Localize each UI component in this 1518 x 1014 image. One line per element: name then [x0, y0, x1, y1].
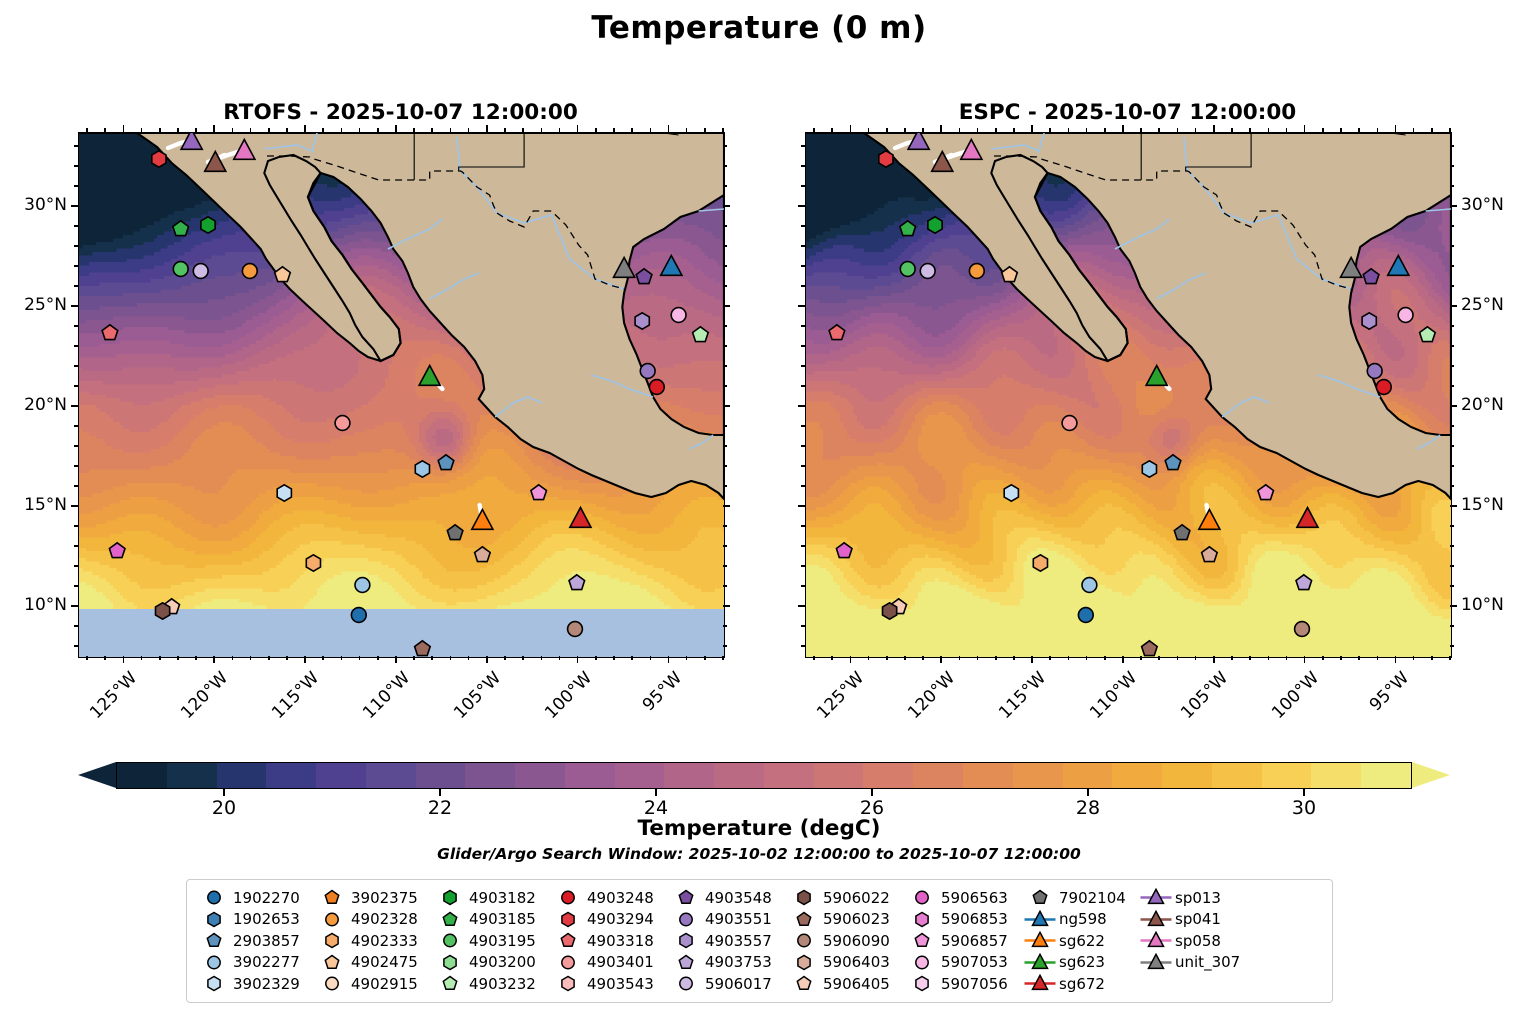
legend-item-7902104[interactable]: 7902104 [1023, 887, 1139, 909]
ytick-minor-r-espc-17 [1450, 465, 1454, 467]
map-marker-5906090[interactable] [1295, 622, 1310, 637]
xtick-minor-espc--111 [1104, 656, 1106, 660]
legend-item-2903857[interactable]: 2903857 [197, 930, 315, 952]
ytick-label-right-2: 20°N [1461, 395, 1504, 415]
xtick-minor-espc--122 [904, 656, 906, 660]
xtick-rtofs-6 [668, 656, 670, 663]
xtick-minor-top-espc--112 [1086, 128, 1088, 132]
legend-marker-unit_307 [1139, 952, 1173, 973]
legend-marker-4903543 [551, 973, 585, 994]
ytick-minor-l-espc-12 [801, 565, 805, 567]
legend-item-5906563[interactable]: 5906563 [905, 887, 1023, 909]
map-marker-4903195[interactable] [900, 262, 915, 277]
legend-item-sg622[interactable]: sg622 [1023, 930, 1139, 952]
legend-marker-5906563 [905, 887, 939, 908]
ytick-label-right-4: 30°N [1461, 195, 1504, 215]
xtick-minor-top-espc--123 [886, 128, 888, 132]
xtick-minor-top-espc--104 [1231, 128, 1233, 132]
xtick-minor-espc--107 [1177, 656, 1179, 660]
legend-marker-4903185 [433, 909, 467, 930]
xtick-minor-espc--99 [1322, 656, 1324, 660]
legend-label-4902915: 4902915 [349, 975, 418, 993]
xtick-minor-top-espc--96 [1377, 128, 1379, 132]
legend-item-4902915[interactable]: 4902915 [315, 973, 433, 995]
map-marker-3902375[interactable] [355, 578, 370, 593]
legend-marker-ng598 [1023, 909, 1057, 930]
ytick-right-rtofs-1 [723, 505, 730, 507]
xtick-minor-top-rtofs--97 [631, 128, 633, 132]
ytick-minor-r-rtofs-11 [723, 585, 727, 587]
ytick-right-espc-4 [1450, 205, 1457, 207]
xtick-minor-top-rtofs--108 [431, 128, 433, 132]
colorbar-band-4 [316, 763, 366, 788]
legend-item-4903557[interactable]: 4903557 [669, 930, 787, 952]
legend-column-0: 19022701902653290385739022773902329 [197, 887, 315, 995]
legend-item-4902333[interactable]: 4902333 [315, 930, 433, 952]
legend-item-sp041[interactable]: sp041 [1139, 909, 1261, 931]
ytick-minor-r-espc-32 [1450, 165, 1454, 167]
legend-label-5907056: 5907056 [939, 975, 1008, 993]
colorbar-band-0 [117, 763, 167, 788]
colorbar-band-22 [1212, 763, 1262, 788]
legend-label-4903548: 4903548 [703, 889, 772, 907]
legend-item-5906090[interactable]: 5906090 [787, 930, 905, 952]
legend-column-4: 49035484903551490355749037535906017 [669, 887, 787, 995]
xtick-minor-espc--114 [1049, 656, 1051, 660]
legend-label-sp058: sp058 [1173, 932, 1221, 950]
map-panel-rtofs[interactable] [78, 132, 725, 658]
xtick-espc-5 [1304, 656, 1306, 663]
xtick-rtofs-3 [395, 656, 397, 663]
legend-label-5906022: 5906022 [821, 889, 890, 907]
map-marker-4902328[interactable] [969, 264, 984, 279]
legend-marker-sg622 [1023, 930, 1057, 951]
legend-marker-1902653 [197, 909, 231, 930]
map-marker-5906017[interactable] [920, 264, 935, 279]
xtick-minor-top-rtofs--121 [195, 128, 197, 132]
xtick-top-espc-2 [1031, 125, 1033, 132]
legend-column-3: 49032484903294490331849034014903543 [551, 887, 669, 995]
legend-item-unit_307[interactable]: unit_307 [1139, 952, 1261, 974]
legend-item-4903294[interactable]: 4903294 [551, 909, 669, 931]
xtick-minor-top-rtofs--99 [595, 128, 597, 132]
xtick-minor-rtofs--113 [341, 656, 343, 660]
colorbar-band-25 [1361, 763, 1411, 788]
map-marker-5906090[interactable] [568, 622, 583, 637]
xtick-label-espc-6: 95°W [1329, 668, 1414, 753]
map-marker-4903401[interactable] [1062, 416, 1077, 431]
ytick-minor-l-rtofs-31 [74, 185, 78, 187]
xtick-top-rtofs-3 [395, 125, 397, 132]
legend-marker-3902329 [197, 973, 231, 994]
xtick-minor-top-rtofs--114 [322, 128, 324, 132]
legend-item-5906023[interactable]: 5906023 [787, 909, 905, 931]
map-marker-1902270[interactable] [1078, 608, 1093, 623]
legend-item-1902270[interactable]: 1902270 [197, 887, 315, 909]
legend-label-unit_307: unit_307 [1173, 953, 1240, 971]
legend-label-7902104: 7902104 [1057, 889, 1126, 907]
legend-label-sp013: sp013 [1173, 889, 1221, 907]
colorbar-band-5 [366, 763, 416, 788]
xtick-minor-top-espc--101 [1286, 128, 1288, 132]
xtick-minor-espc--112 [1086, 656, 1088, 660]
map-marker-4903557[interactable] [1362, 313, 1376, 329]
ytick-right-rtofs-4 [723, 205, 730, 207]
map-marker-4903182[interactable] [928, 217, 942, 233]
ytick-label-right-0: 10°N [1461, 595, 1504, 615]
legend-column-1: 39023754902328490233349024754902915 [315, 887, 433, 995]
ytick-minor-l-rtofs-13 [74, 545, 78, 547]
xtick-minor-top-espc--113 [1068, 128, 1070, 132]
map-marker-3902329[interactable] [277, 485, 291, 501]
xtick-minor-espc--119 [959, 656, 961, 660]
legend-item-sp013[interactable]: sp013 [1139, 887, 1261, 909]
map-marker-5906017[interactable] [193, 264, 208, 279]
xtick-minor-top-rtofs--109 [413, 128, 415, 132]
legend-item-4903753[interactable]: 4903753 [669, 952, 787, 974]
ytick-minor-r-espc-12 [1450, 565, 1454, 567]
ytick-minor-r-espc-19 [1450, 425, 1454, 427]
xtick-top-rtofs-1 [213, 125, 215, 132]
legend-item-sg623[interactable]: sg623 [1023, 952, 1139, 974]
ytick-label-left-1: 15°N [0, 495, 67, 515]
xtick-label-espc-2: 115°W [965, 668, 1050, 753]
legend-item-5906403[interactable]: 5906403 [787, 952, 905, 974]
legend-label-2903857: 2903857 [231, 932, 300, 950]
xtick-rtofs-2 [304, 656, 306, 663]
colorbar-band-17 [963, 763, 1013, 788]
ytick-minor-l-rtofs-26 [74, 285, 78, 287]
xtick-minor-espc--117 [995, 656, 997, 660]
colorbar-band-7 [465, 763, 515, 788]
xtick-espc-4 [1213, 656, 1215, 663]
ytick-minor-r-rtofs-23 [723, 345, 727, 347]
legend-item-5906017[interactable]: 5906017 [669, 973, 787, 995]
colorbar-band-3 [266, 763, 316, 788]
legend-item-4903248[interactable]: 4903248 [551, 887, 669, 909]
legend-marker-sp013 [1139, 887, 1173, 908]
legend-item-sp058[interactable]: sp058 [1139, 930, 1261, 952]
xtick-minor-espc--109 [1140, 656, 1142, 660]
colorbar-band-19 [1063, 763, 1113, 788]
xtick-minor-espc--106 [1195, 656, 1197, 660]
ytick-minor-r-espc-11 [1450, 585, 1454, 587]
map-marker-3902277[interactable] [415, 461, 429, 477]
legend-marker-3902277 [197, 952, 231, 973]
legend-item-5907053[interactable]: 5907053 [905, 952, 1023, 974]
map-marker-5906022[interactable] [883, 603, 897, 619]
legend-item-4903318[interactable]: 4903318 [551, 930, 669, 952]
xtick-label-rtofs-1: 120°W [148, 668, 233, 753]
map-marker-4903551[interactable] [640, 364, 655, 379]
legend-item-1902653[interactable]: 1902653 [197, 909, 315, 931]
ytick-minor-r-espc-33 [1450, 145, 1454, 147]
xtick-minor-rtofs--102 [541, 656, 543, 660]
xtick-minor-top-espc--118 [977, 128, 979, 132]
ytick-label-right-3: 25°N [1461, 295, 1504, 315]
map-marker-5906022[interactable] [156, 603, 170, 619]
colorbar-tick-0 [223, 789, 224, 796]
xtick-minor-top-espc--107 [1177, 128, 1179, 132]
ytick-label-left-0: 10°N [0, 595, 67, 615]
ytick-minor-l-rtofs-14 [74, 525, 78, 527]
xtick-minor-rtofs--123 [159, 656, 161, 660]
legend-marker-5906857 [905, 930, 939, 951]
xtick-minor-rtofs--96 [650, 656, 652, 660]
map-marker-4903248[interactable] [1376, 380, 1391, 395]
xtick-label-rtofs-2: 115°W [238, 668, 323, 753]
legend-item-4902328[interactable]: 4902328 [315, 909, 433, 931]
xtick-minor-rtofs--107 [450, 656, 452, 660]
map-marker-5907053[interactable] [671, 308, 686, 323]
xtick-minor-espc--126 [831, 656, 833, 660]
xtick-rtofs-4 [486, 656, 488, 663]
ytick-minor-r-espc-29 [1450, 225, 1454, 227]
xtick-minor-top-espc--109 [1140, 128, 1142, 132]
legend-item-3902375[interactable]: 3902375 [315, 887, 433, 909]
xtick-espc-1 [940, 656, 942, 663]
legend-item-4903543[interactable]: 4903543 [551, 973, 669, 995]
ytick-right-rtofs-3 [723, 305, 730, 307]
legend-label-4903294: 4903294 [585, 910, 654, 928]
ytick-minor-l-espc-23 [801, 345, 805, 347]
xtick-minor-top-rtofs--119 [232, 128, 234, 132]
legend-label-4903401: 4903401 [585, 953, 654, 971]
map-marker-4903182[interactable] [201, 217, 215, 233]
ytick-minor-r-espc-18 [1450, 445, 1454, 447]
xtick-minor-top-espc--127 [813, 128, 815, 132]
legend-label-4903232: 4903232 [467, 975, 536, 993]
legend-label-4903318: 4903318 [585, 932, 654, 950]
xtick-minor-top-rtofs--127 [86, 128, 88, 132]
panel-title-rtofs: RTOFS - 2025-10-07 12:00:00 [78, 100, 723, 125]
colorbar [78, 762, 1450, 789]
xtick-minor-rtofs--109 [413, 656, 415, 660]
ytick-left-rtofs-4 [71, 205, 78, 207]
ytick-minor-r-espc-24 [1450, 325, 1454, 327]
colorbar-band-2 [217, 763, 267, 788]
legend-label-4903753: 4903753 [703, 953, 772, 971]
legend-label-ng598: ng598 [1057, 910, 1107, 928]
legend-marker-5906405 [787, 973, 821, 994]
colorbar-band-1 [167, 763, 217, 788]
ytick-minor-r-espc-21 [1450, 385, 1454, 387]
legend-label-4903195: 4903195 [467, 932, 536, 950]
colorbar-max-extend-arrow [1412, 762, 1450, 788]
legend-item-5906405[interactable]: 5906405 [787, 973, 905, 995]
xtick-minor-top-espc--93 [1431, 128, 1433, 132]
xtick-minor-top-rtofs--98 [613, 128, 615, 132]
colorbar-band-8 [515, 763, 565, 788]
xtick-minor-top-espc--92 [1449, 128, 1451, 132]
xtick-espc-3 [1122, 656, 1124, 663]
ytick-minor-l-espc-19 [801, 425, 805, 427]
colorbar-tick-5 [1303, 789, 1304, 796]
legend-item-4903551[interactable]: 4903551 [669, 909, 787, 931]
map-marker-4903551[interactable] [1367, 364, 1382, 379]
legend-item-4903182[interactable]: 4903182 [433, 887, 551, 909]
legend-marker-4903200 [433, 952, 467, 973]
ytick-minor-r-rtofs-8 [723, 645, 727, 647]
legend-label-3902329: 3902329 [231, 975, 300, 993]
map-marker-3902329[interactable] [1004, 485, 1018, 501]
xtick-minor-espc--94 [1413, 656, 1415, 660]
map-marker-5907053[interactable] [1398, 308, 1413, 323]
panel-title-espc: ESPC - 2025-10-07 12:00:00 [805, 100, 1450, 125]
legend-item-5906857[interactable]: 5906857 [905, 930, 1023, 952]
xtick-minor-top-espc--119 [959, 128, 961, 132]
legend-item-5907056[interactable]: 5907056 [905, 973, 1023, 995]
legend-marker-4903248 [551, 887, 585, 908]
figure-suptitle: Temperature (0 m) [0, 10, 1518, 46]
ytick-minor-l-espc-14 [801, 525, 805, 527]
colorbar-band-10 [615, 763, 665, 788]
legend-marker-sg672 [1023, 973, 1057, 994]
legend-label-5906090: 5906090 [821, 932, 890, 950]
legend-label-4902333: 4902333 [349, 932, 418, 950]
map-marker-4902328[interactable] [242, 264, 257, 279]
ytick-minor-l-rtofs-24 [74, 325, 78, 327]
ytick-left-rtofs-2 [71, 405, 78, 407]
legend-marker-5906403 [787, 952, 821, 973]
xtick-minor-top-rtofs--118 [250, 128, 252, 132]
xtick-espc-0 [850, 656, 852, 663]
legend-label-5906023: 5906023 [821, 910, 890, 928]
map-marker-4903195[interactable] [173, 262, 188, 277]
colorbar-band-11 [664, 763, 714, 788]
xtick-minor-espc--121 [922, 656, 924, 660]
legend-marker-4902328 [315, 909, 349, 930]
colorbar-tick-4 [1087, 789, 1088, 796]
legend-item-5906022[interactable]: 5906022 [787, 887, 905, 909]
xtick-minor-rtofs--97 [631, 656, 633, 660]
xtick-top-rtofs-4 [486, 125, 488, 132]
map-marker-4903401[interactable] [335, 416, 350, 431]
ytick-minor-r-rtofs-16 [723, 485, 727, 487]
xtick-top-rtofs-0 [123, 125, 125, 132]
xtick-top-espc-0 [850, 125, 852, 132]
ytick-minor-r-rtofs-27 [723, 265, 727, 267]
xtick-label-espc-4: 105°W [1147, 668, 1232, 753]
map-marker-4903557[interactable] [635, 313, 649, 329]
ytick-minor-l-rtofs-29 [74, 225, 78, 227]
legend-marker-5907053 [905, 952, 939, 973]
legend-item-4903401[interactable]: 4903401 [551, 952, 669, 974]
ytick-minor-r-rtofs-13 [723, 545, 727, 547]
map-marker-1902270[interactable] [351, 608, 366, 623]
colorbar-band-15 [863, 763, 913, 788]
map-marker-4902333[interactable] [1033, 555, 1047, 571]
xtick-top-espc-6 [1395, 125, 1397, 132]
ytick-minor-r-espc-13 [1450, 545, 1454, 547]
xtick-label-rtofs-3: 110°W [329, 668, 414, 753]
map-marker-4903294[interactable] [152, 151, 166, 167]
legend-item-4902475[interactable]: 4902475 [315, 952, 433, 974]
legend-marker-5906023 [787, 909, 821, 930]
ytick-minor-l-espc-17 [801, 465, 805, 467]
xtick-minor-top-rtofs--106 [468, 128, 470, 132]
ytick-minor-r-rtofs-18 [723, 445, 727, 447]
legend-item-4903185[interactable]: 4903185 [433, 909, 551, 931]
colorbar-band-13 [764, 763, 814, 788]
ytick-minor-l-rtofs-11 [74, 585, 78, 587]
ytick-minor-r-espc-16 [1450, 485, 1454, 487]
xtick-minor-rtofs--126 [104, 656, 106, 660]
colorbar-tick-2 [655, 789, 656, 796]
xtick-top-rtofs-6 [668, 125, 670, 132]
legend-item-4903232[interactable]: 4903232 [433, 973, 551, 995]
legend-label-4903543: 4903543 [585, 975, 654, 993]
legend-marker-4903548 [669, 887, 703, 908]
legend-item-sg672[interactable]: sg672 [1023, 973, 1139, 995]
xtick-minor-top-rtofs--112 [359, 128, 361, 132]
map-marker-3902375[interactable] [1082, 578, 1097, 593]
xtick-minor-rtofs--118 [250, 656, 252, 660]
map-marker-4903294[interactable] [879, 151, 893, 167]
colorbar-bands [116, 762, 1412, 789]
xtick-minor-espc--116 [1013, 656, 1015, 660]
legend-item-3902329[interactable]: 3902329 [197, 973, 315, 995]
xtick-minor-top-espc--126 [831, 128, 833, 132]
ytick-minor-l-espc-32 [801, 165, 805, 167]
legend-label-5906853: 5906853 [939, 910, 1008, 928]
xtick-minor-rtofs--101 [559, 656, 561, 660]
legend-item-5906853[interactable]: 5906853 [905, 909, 1023, 931]
ytick-minor-r-rtofs-32 [723, 165, 727, 167]
map-marker-4903248[interactable] [649, 380, 664, 395]
xtick-minor-top-rtofs--117 [268, 128, 270, 132]
map-panel-espc[interactable] [805, 132, 1452, 658]
xtick-minor-top-rtofs--94 [686, 128, 688, 132]
legend-item-4903200[interactable]: 4903200 [433, 952, 551, 974]
legend-item-4903195[interactable]: 4903195 [433, 930, 551, 952]
colorbar-band-20 [1112, 763, 1162, 788]
map-marker-3902277[interactable] [1142, 461, 1156, 477]
legend-marker-4903557 [669, 930, 703, 951]
legend-marker-5907056 [905, 973, 939, 994]
legend-item-4903548[interactable]: 4903548 [669, 887, 787, 909]
ytick-minor-l-rtofs-12 [74, 565, 78, 567]
legend-label-5906563: 5906563 [939, 889, 1008, 907]
ytick-minor-r-espc-31 [1450, 185, 1454, 187]
xtick-minor-top-rtofs--96 [650, 128, 652, 132]
xtick-minor-top-espc--116 [1013, 128, 1015, 132]
colorbar-band-16 [913, 763, 963, 788]
xtick-minor-top-espc--97 [1358, 128, 1360, 132]
colorbar-band-23 [1262, 763, 1312, 788]
ytick-right-rtofs-0 [723, 605, 730, 607]
xtick-minor-rtofs--92 [722, 656, 724, 660]
colorbar-band-12 [714, 763, 764, 788]
ytick-minor-r-rtofs-33 [723, 145, 727, 147]
legend-item-3902277[interactable]: 3902277 [197, 952, 315, 974]
ytick-minor-l-espc-9 [801, 625, 805, 627]
legend-label-sg622: sg622 [1057, 932, 1105, 950]
xtick-minor-rtofs--103 [522, 656, 524, 660]
ytick-minor-r-rtofs-26 [723, 285, 727, 287]
ytick-minor-l-espc-27 [801, 265, 805, 267]
legend-marker-2903857 [197, 930, 231, 951]
xtick-minor-top-espc--108 [1158, 128, 1160, 132]
map-marker-4902333[interactable] [306, 555, 320, 571]
legend-label-1902270: 1902270 [231, 889, 300, 907]
legend-item-ng598[interactable]: ng598 [1023, 909, 1139, 931]
legend-marker-5906853 [905, 909, 939, 930]
xtick-espc-6 [1395, 656, 1397, 663]
xtick-minor-top-espc--102 [1268, 128, 1270, 132]
legend-marker-sp041 [1139, 909, 1173, 930]
legend-marker-4903232 [433, 973, 467, 994]
